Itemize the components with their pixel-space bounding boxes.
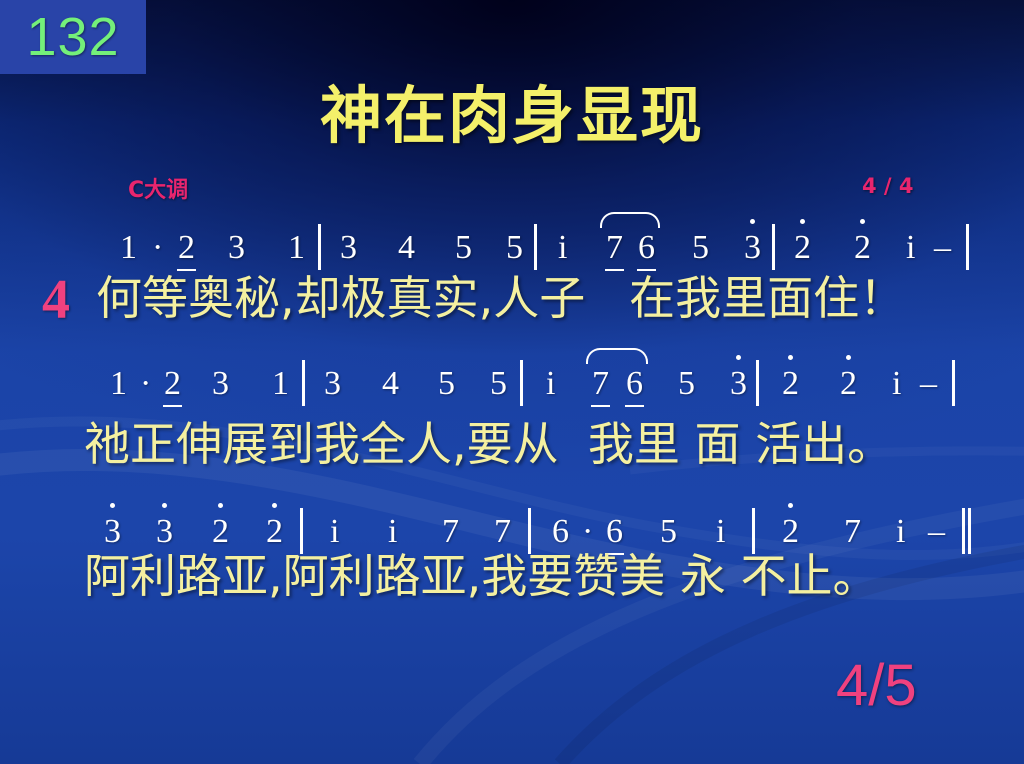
note-glyph: 5 — [438, 364, 455, 404]
lyric-line: 阿利路亚,阿利路亚,我要赞美 永 不止。 — [0, 550, 1024, 602]
barline — [772, 224, 775, 270]
note-2: 2 — [854, 228, 871, 268]
note-glyph: 3 — [228, 228, 245, 268]
note-2: 2 — [794, 228, 811, 268]
page-title: 神在肉身显现 — [0, 84, 1024, 148]
barline — [756, 360, 759, 406]
note-glyph: 2 — [782, 512, 799, 552]
note-6: 6 — [606, 512, 623, 552]
note-2: 2 — [782, 364, 799, 404]
note-glyph: 7 — [494, 512, 511, 552]
note-2: 2 — [212, 512, 229, 552]
note-glyph: 3 — [212, 364, 229, 404]
note-5: 5 — [455, 228, 472, 268]
lyric-line: 祂正伸展到我全人,要从 我里 面 活出。 — [0, 418, 1024, 470]
note-i: i — [330, 512, 339, 552]
note-glyph: 5 — [660, 512, 677, 552]
note-glyph: 5 — [455, 228, 472, 268]
note-glyph: 6 — [638, 228, 655, 268]
barline — [528, 508, 531, 554]
note-glyph: 5 — [678, 364, 695, 404]
note-glyph: 1 — [272, 364, 289, 404]
note-i: i — [906, 228, 915, 268]
note-glyph: 7 — [592, 364, 609, 404]
note-5: 5 — [660, 512, 677, 552]
note-glyph: i — [896, 512, 905, 552]
barline — [534, 224, 537, 270]
time-signature: 4 / 4 — [862, 174, 914, 198]
note-7: 7 — [592, 364, 609, 404]
note-7: 7 — [844, 512, 861, 552]
note-glyph: 2 — [164, 364, 181, 404]
note-3: 3 — [730, 364, 747, 404]
note-7: 7 — [442, 512, 459, 552]
note-glyph: 2 — [782, 364, 799, 404]
sustain-dash: – — [928, 512, 945, 552]
hymn-slide: 132 神在肉身显现 C大调 4 / 4 4 1·2313455i765322i… — [0, 0, 1024, 764]
note-glyph: 4 — [398, 228, 415, 268]
augmentation-dot: · — [582, 512, 593, 552]
note-4: 4 — [398, 228, 415, 268]
barline — [302, 360, 305, 406]
note-glyph: 3 — [730, 364, 747, 404]
note-5: 5 — [678, 364, 695, 404]
lyric-line: 何等奥秘,却极真实,人子 在我里面住！ — [0, 272, 1024, 324]
note-glyph: 7 — [844, 512, 861, 552]
note-glyph: 6 — [606, 512, 623, 552]
note-glyph: i — [546, 364, 555, 404]
note-glyph: 6 — [552, 512, 569, 552]
note-7: 7 — [494, 512, 511, 552]
slur-arc — [586, 348, 648, 364]
note-2: 2 — [782, 512, 799, 552]
note-glyph: i — [892, 364, 901, 404]
note-i: i — [896, 512, 905, 552]
note-i: i — [546, 364, 555, 404]
barline — [520, 360, 523, 406]
note-glyph: 5 — [506, 228, 523, 268]
note-glyph: 1 — [120, 228, 137, 268]
note-glyph: 5 — [692, 228, 709, 268]
note-6: 6 — [552, 512, 569, 552]
note-glyph: 3 — [340, 228, 357, 268]
note-glyph: 7 — [606, 228, 623, 268]
note-i: i — [558, 228, 567, 268]
augmentation-dot: · — [152, 228, 163, 268]
lyric-text: 阿利路亚,阿利路亚,我要赞美 永 不止。 — [84, 550, 879, 602]
note-glyph: i — [330, 512, 339, 552]
note-2: 2 — [266, 512, 283, 552]
note-glyph: i — [906, 228, 915, 268]
barline — [752, 508, 755, 554]
note-glyph: 1 — [110, 364, 127, 404]
note-glyph: 6 — [626, 364, 643, 404]
note-glyph: 2 — [840, 364, 857, 404]
note-1: 1 — [120, 228, 137, 268]
note-glyph: 2 — [212, 512, 229, 552]
sustain-dash: – — [920, 364, 937, 404]
note-6: 6 — [626, 364, 643, 404]
note-3: 3 — [156, 512, 173, 552]
note-glyph: 5 — [490, 364, 507, 404]
note-6: 6 — [638, 228, 655, 268]
note-3: 3 — [744, 228, 761, 268]
note-7: 7 — [606, 228, 623, 268]
note-3: 3 — [340, 228, 357, 268]
note-3: 3 — [104, 512, 121, 552]
page-indicator: 4/5 — [836, 656, 917, 716]
augmentation-dot: · — [140, 364, 151, 404]
slur-arc — [600, 212, 660, 228]
note-glyph: 2 — [266, 512, 283, 552]
barline — [966, 224, 969, 270]
note-2: 2 — [178, 228, 195, 268]
note-glyph: 2 — [178, 228, 195, 268]
note-i: i — [388, 512, 397, 552]
note-5: 5 — [438, 364, 455, 404]
note-glyph: 7 — [442, 512, 459, 552]
note-glyph: 4 — [382, 364, 399, 404]
lyric-text: 何等奥秘,却极真实,人子 在我里面住！ — [96, 272, 905, 324]
note-glyph: 3 — [156, 512, 173, 552]
note-2: 2 — [840, 364, 857, 404]
note-5: 5 — [506, 228, 523, 268]
barline — [952, 360, 955, 406]
note-3: 3 — [212, 364, 229, 404]
note-5: 5 — [490, 364, 507, 404]
notation-row: 1·2313455i765322i– — [0, 364, 1024, 414]
note-glyph: 2 — [854, 228, 871, 268]
note-glyph: i — [388, 512, 397, 552]
note-1: 1 — [272, 364, 289, 404]
note-1: 1 — [110, 364, 127, 404]
note-glyph: 1 — [288, 228, 305, 268]
note-3: 3 — [228, 228, 245, 268]
hymn-number: 132 — [26, 10, 119, 64]
lyric-text: 祂正伸展到我全人,要从 我里 面 活出。 — [84, 418, 893, 470]
note-glyph: 3 — [744, 228, 761, 268]
barline — [300, 508, 303, 554]
note-5: 5 — [692, 228, 709, 268]
barline — [318, 224, 321, 270]
note-i: i — [892, 364, 901, 404]
note-1: 1 — [288, 228, 305, 268]
note-glyph: 3 — [104, 512, 121, 552]
note-3: 3 — [324, 364, 341, 404]
hymn-number-badge: 132 — [0, 0, 146, 74]
sustain-dash: – — [934, 228, 951, 268]
note-i: i — [716, 512, 725, 552]
note-glyph: 3 — [324, 364, 341, 404]
note-4: 4 — [382, 364, 399, 404]
note-glyph: i — [716, 512, 725, 552]
key-signature: C大调 — [128, 172, 188, 204]
note-2: 2 — [164, 364, 181, 404]
final-barline — [962, 508, 965, 554]
note-glyph: 2 — [794, 228, 811, 268]
note-glyph: i — [558, 228, 567, 268]
